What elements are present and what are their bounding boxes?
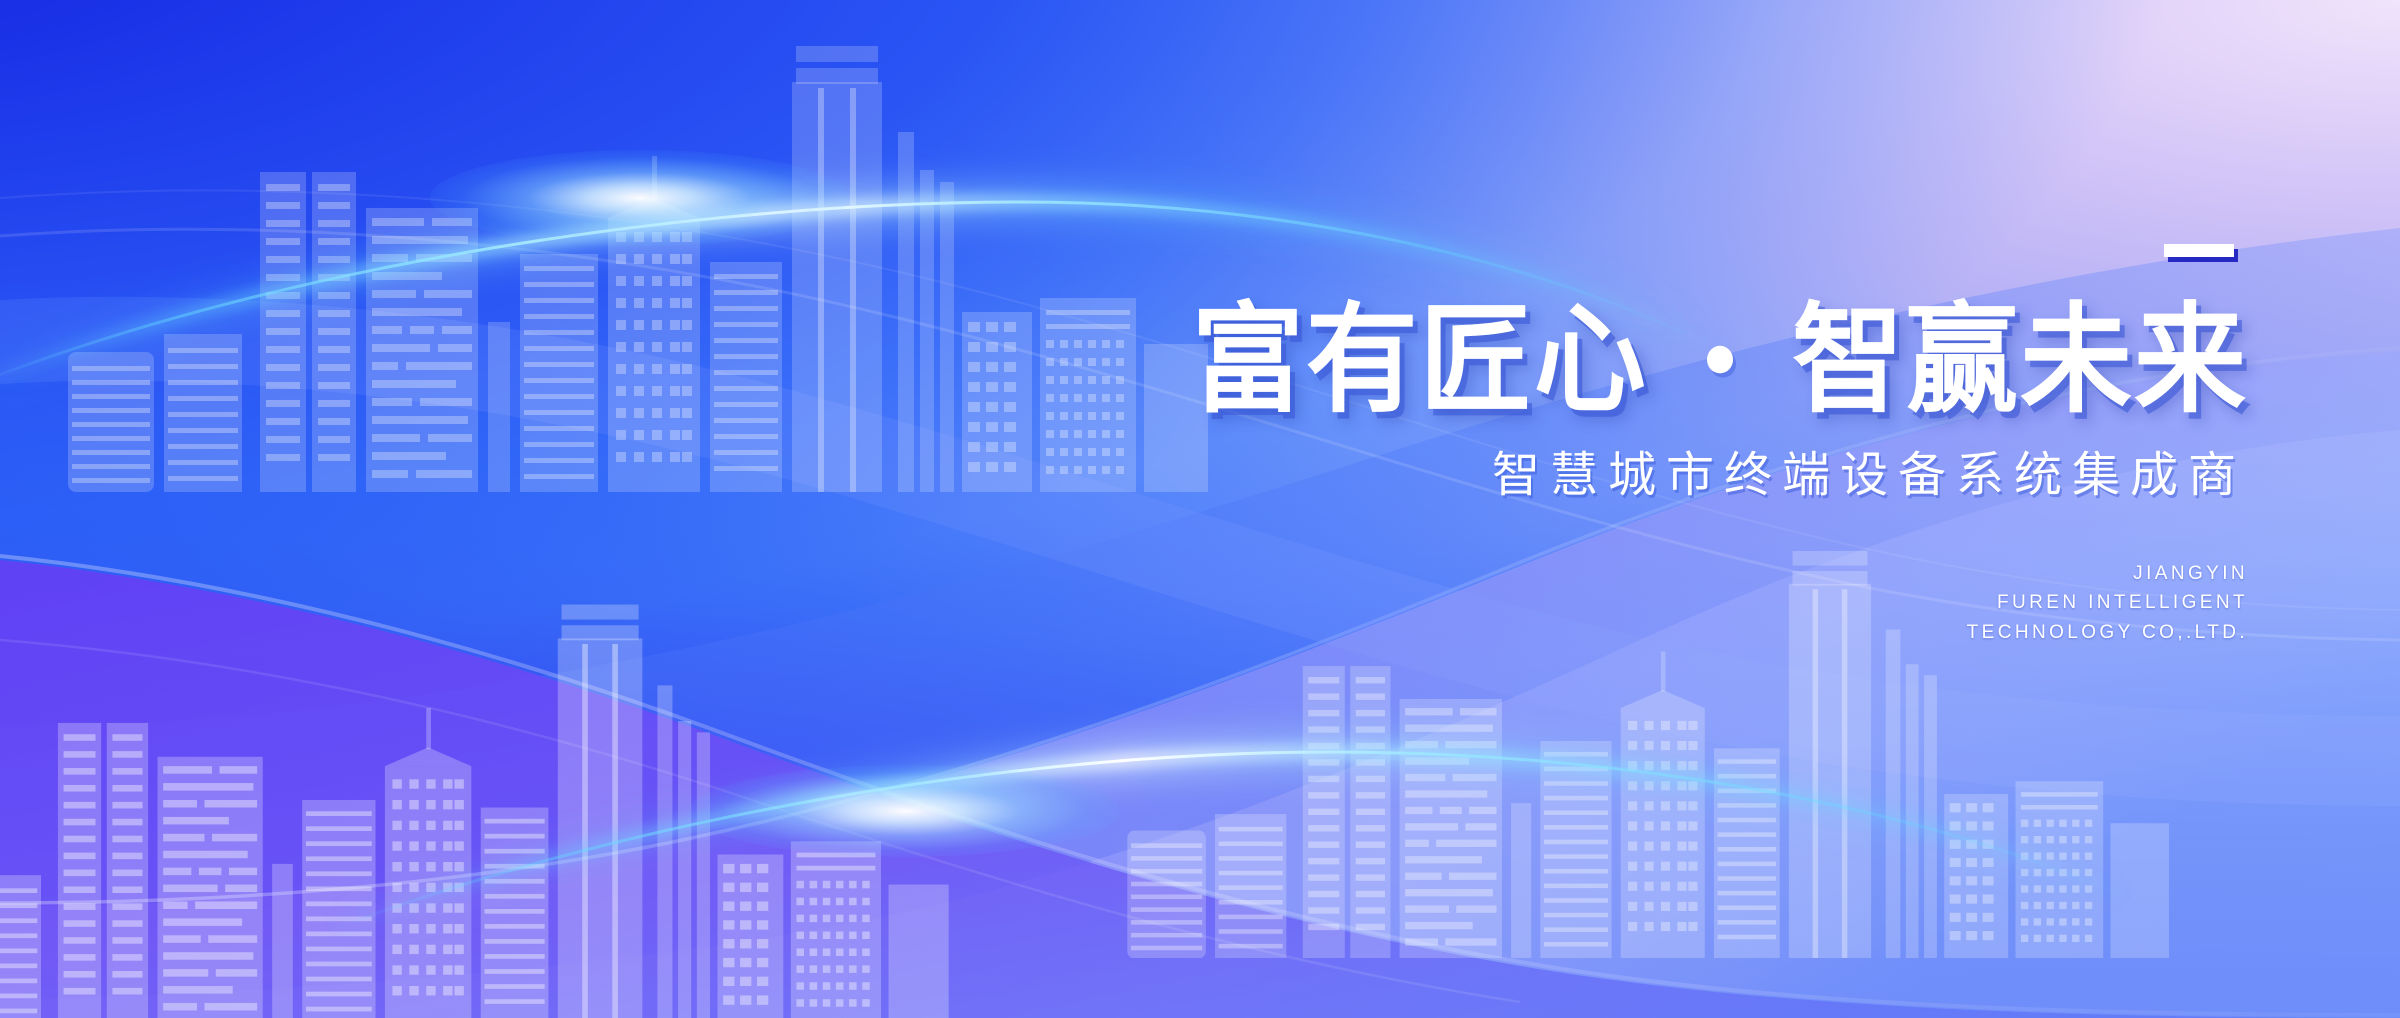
company-name-block: JIANGYIN FUREN INTELLIGENT TECHNOLOGY CO… xyxy=(1148,559,2248,647)
skyline-top-left xyxy=(60,22,1220,492)
banner-canvas: 富有匠心 智赢未来 智慧城市终端设备系统集成商 JIANGYIN FUREN I… xyxy=(0,0,2400,1018)
accent-dash-icon xyxy=(2164,244,2234,257)
banner-title-right: 智赢未来 xyxy=(1792,294,2248,427)
banner-title: 富有匠心 智赢未来 xyxy=(1148,301,2248,420)
banner-subtitle: 智慧城市终端设备系统集成商 xyxy=(1148,450,2248,503)
skyline-bottom-left xyxy=(0,582,960,1018)
banner-title-left: 富有匠心 xyxy=(1192,294,1648,427)
company-name-line-1: JIANGYIN xyxy=(1148,559,2248,588)
accent-dash-row xyxy=(1148,244,2248,262)
title-separator-dot-icon xyxy=(1707,346,1733,374)
banner-text-block: 富有匠心 智赢未来 智慧城市终端设备系统集成商 JIANGYIN FUREN I… xyxy=(1148,244,2248,647)
company-name-line-3: TECHNOLOGY CO,.LTD. xyxy=(1148,618,2248,647)
company-name-line-2: FUREN INTELLIGENT xyxy=(1148,588,2248,617)
